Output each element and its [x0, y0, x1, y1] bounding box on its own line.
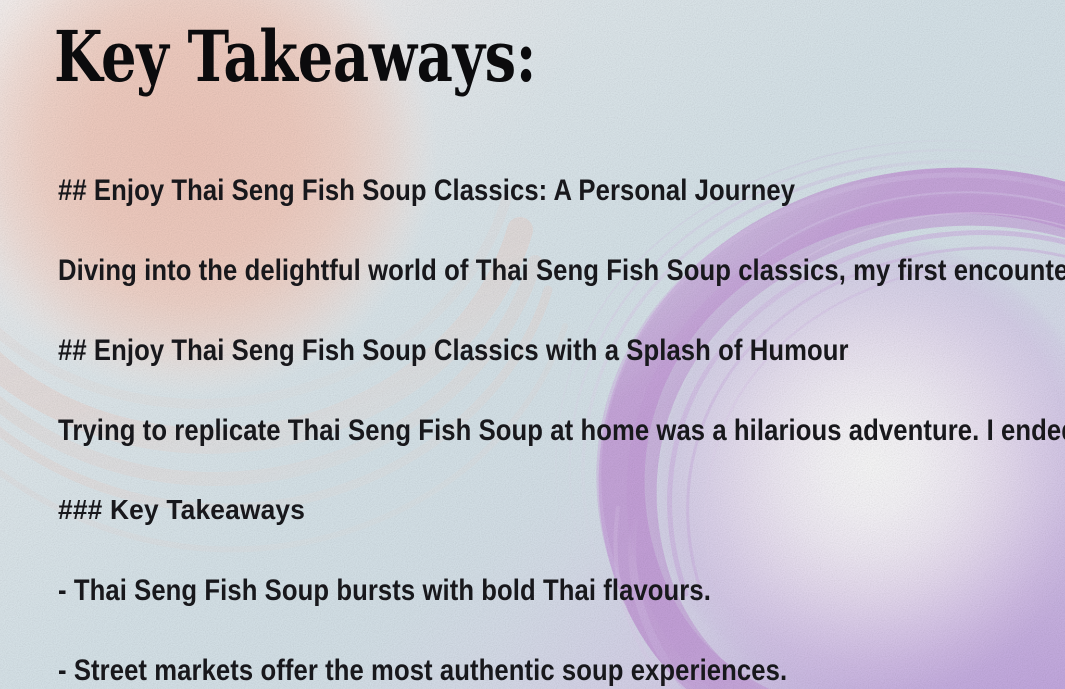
text-line-content: ## Enjoy Thai Seng Fish Soup Classics: A… [58, 174, 795, 207]
text-line-content: ## Enjoy Thai Seng Fish Soup Classics wi… [58, 334, 849, 367]
text-line-bullet-1: - Thai Seng Fish Soup bursts with bold T… [0, 550, 1065, 630]
text-line-content: - Street markets offer the most authenti… [58, 654, 787, 687]
page-title: Key Takeaways: [54, 22, 536, 92]
text-line-content: Diving into the delightful world of Thai… [58, 254, 1065, 287]
text-line-paragraph-1: Diving into the delightful world of Thai… [0, 230, 1065, 310]
poster-content: Key Takeaways: ## Enjoy Thai Seng Fish S… [0, 0, 1065, 689]
text-line-heading-1: ## Enjoy Thai Seng Fish Soup Classics: A… [0, 150, 1065, 230]
body-text-block: ## Enjoy Thai Seng Fish Soup Classics: A… [0, 150, 1065, 689]
poster-canvas: Key Takeaways: ## Enjoy Thai Seng Fish S… [0, 0, 1065, 689]
text-line-paragraph-2: Trying to replicate Thai Seng Fish Soup … [0, 390, 1065, 470]
text-line-bullet-2: - Street markets offer the most authenti… [0, 630, 1065, 689]
text-line-content: ### Key Takeaways [58, 495, 305, 526]
text-line-content: - Thai Seng Fish Soup bursts with bold T… [58, 574, 711, 607]
text-line-content: Trying to replicate Thai Seng Fish Soup … [58, 414, 1065, 447]
text-line-heading-2: ## Enjoy Thai Seng Fish Soup Classics wi… [0, 310, 1065, 390]
text-line-heading-3: ### Key Takeaways [0, 470, 1065, 550]
